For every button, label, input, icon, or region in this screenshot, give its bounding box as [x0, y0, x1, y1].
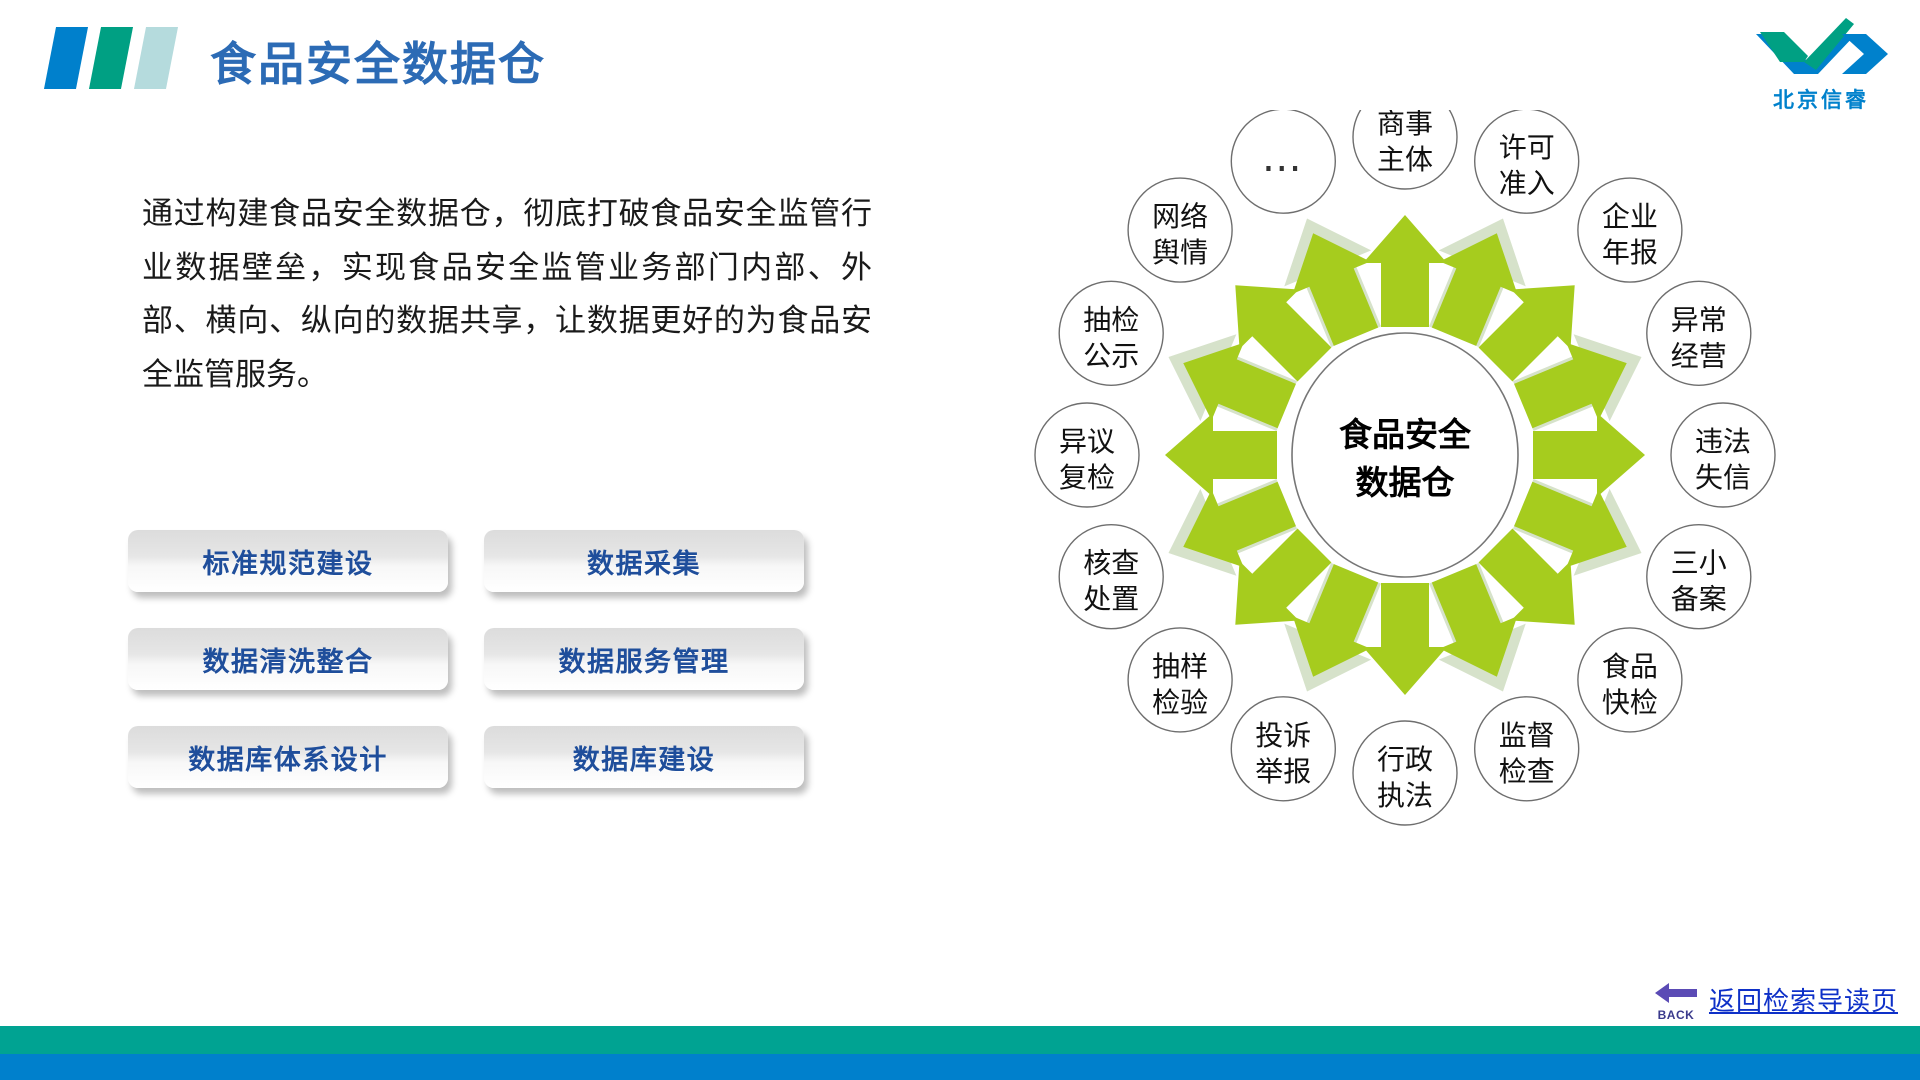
hub-label-line1: 食品安全 — [1339, 415, 1472, 454]
node-label-jiandu-line1: 监督 — [1499, 719, 1555, 752]
slide-root: 食品安全数据仓 北京信睿 通过构建食品安全数据仓，彻底打破食品安全监管行业数据壁… — [0, 0, 1920, 1080]
page-title: 食品安全数据仓 — [210, 28, 546, 94]
node-label-choujian-line1: 抽检 — [1083, 303, 1139, 336]
back-arrow-glyph — [1653, 980, 1699, 1006]
back-arrow-icon[interactable]: BACK — [1653, 980, 1699, 1020]
module-button-data-cleaning[interactable]: 数据清洗整合 — [128, 628, 448, 690]
module-row: 数据清洗整合 数据服务管理 — [128, 628, 828, 690]
node-label-jiandu-line2: 检查 — [1499, 755, 1555, 788]
node-label-tousu-line2: 举报 — [1255, 755, 1311, 788]
logo-xr-icon — [1746, 12, 1896, 84]
node-label-weifa-line1: 违法 — [1695, 425, 1751, 458]
node-label-shipin-line2: 快检 — [1602, 686, 1658, 719]
node-label-yiyi-line2: 复检 — [1059, 461, 1115, 494]
node-label-xingzheng-line2: 执法 — [1377, 779, 1433, 812]
node-label-hecha-line2: 处置 — [1083, 583, 1139, 616]
diagram-hub: 食品安全 数据仓 — [1292, 333, 1518, 577]
node-label-tousu-line1: 投诉 — [1255, 719, 1311, 752]
module-button-grid: 标准规范建设 数据采集 数据清洗整合 数据服务管理 数据库体系设计 数据库建设 — [128, 530, 828, 824]
node-label-sanxiao-line1: 三小 — [1671, 547, 1727, 580]
module-button-db-architecture[interactable]: 数据库体系设计 — [128, 726, 448, 788]
node-label-chouyang-line1: 抽样 — [1152, 650, 1208, 683]
node-label-yichang-line2: 经营 — [1671, 339, 1727, 372]
arrow-primary-12 — [1165, 413, 1277, 497]
node-label-choujian-line2: 公示 — [1083, 339, 1139, 372]
node-label-weifa-line2: 失信 — [1695, 461, 1751, 494]
node-label-xingzheng-line1: 行政 — [1377, 743, 1433, 776]
accent-bar-2 — [89, 27, 133, 89]
module-row: 数据库体系设计 数据库建设 — [128, 726, 828, 788]
node-label-qiye-line1: 企业 — [1602, 200, 1658, 233]
node-label-qiye-line2: 年报 — [1602, 236, 1658, 269]
module-button-data-collection[interactable]: 数据采集 — [484, 530, 804, 592]
module-button-data-service-mgmt[interactable]: 数据服务管理 — [484, 628, 804, 690]
module-button-standard-spec[interactable]: 标准规范建设 — [128, 530, 448, 592]
footer-band-blue — [0, 1054, 1920, 1080]
footer-band-teal — [0, 1026, 1920, 1054]
node-label-wangluo-line1: 网络 — [1152, 200, 1208, 233]
arrow-primary-8 — [1363, 583, 1447, 695]
node-label-shipin-line1: 食品 — [1602, 650, 1658, 683]
node-label-yiyi-line1: 异议 — [1059, 425, 1115, 458]
node-label-sanxiao-line2: 备案 — [1671, 583, 1727, 616]
module-row: 标准规范建设 数据采集 — [128, 530, 828, 592]
arrow-primary-0 — [1363, 215, 1447, 327]
hub-label-line2: 数据仓 — [1356, 463, 1456, 502]
company-logo: 北京信睿 — [1746, 12, 1896, 120]
arrow-primary-4 — [1533, 413, 1645, 497]
module-button-db-construction[interactable]: 数据库建设 — [484, 726, 804, 788]
node-label-shangshi-line1: 商事 — [1377, 110, 1433, 140]
node-label-hecha-line1: 核查 — [1083, 547, 1139, 580]
node-label-ellipsis: … — [1262, 135, 1305, 181]
header-accent-bars — [44, 27, 184, 89]
accent-bar-1 — [44, 27, 88, 89]
intro-paragraph: 通过构建食品安全数据仓，彻底打破食品安全监管行业数据壁垒，实现食品安全监管业务部… — [142, 188, 872, 403]
back-link-label[interactable]: 返回检索导读页 — [1709, 981, 1898, 1020]
node-label-wangluo-line2: 舆情 — [1152, 236, 1208, 269]
hub-circle — [1292, 333, 1518, 577]
data-warehouse-radial-diagram: 食品安全 数据仓 …商事主体许可准入企业年报异常经营违法失信三小备案食品快检监督… — [900, 110, 1910, 900]
back-badge-text: BACK — [1653, 1008, 1699, 1022]
node-label-xuke-line1: 许可 — [1499, 131, 1555, 164]
node-label-yichang-line1: 异常 — [1671, 303, 1727, 336]
node-label-shangshi-line2: 主体 — [1377, 143, 1433, 176]
accent-bar-3 — [134, 27, 178, 89]
node-label-chouyang-line2: 检验 — [1152, 686, 1208, 719]
node-label-xuke-line2: 准入 — [1499, 167, 1555, 200]
back-link[interactable]: BACK 返回检索导读页 — [1653, 980, 1898, 1020]
